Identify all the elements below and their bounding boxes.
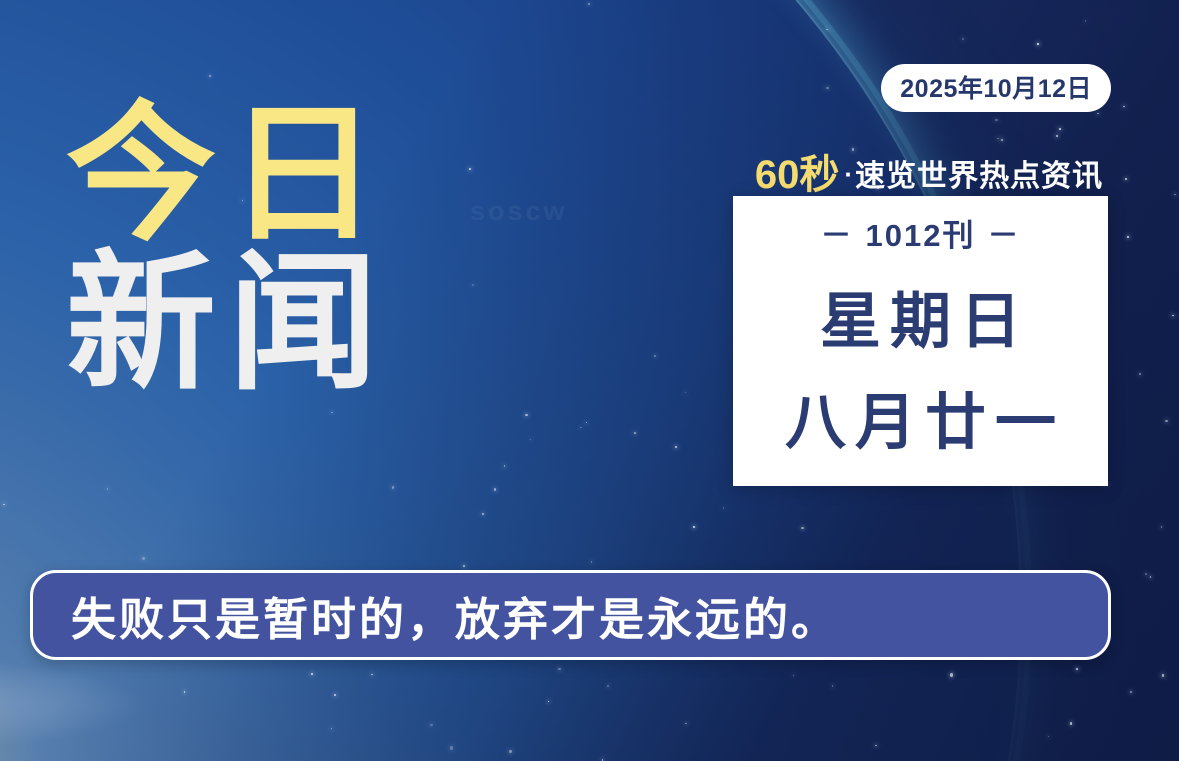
calendar-card: －1012刊－ 星期日 八月廿一	[733, 196, 1108, 486]
quote-bar: 失败只是暂时的，放弃才是永远的。	[30, 570, 1111, 660]
lunar-date-label: 八月廿一	[776, 372, 1065, 461]
page-title: 今日 新闻	[66, 104, 390, 394]
tagline: 60秒·速览世界热点资讯	[744, 142, 1114, 200]
issue-dash-left: －	[821, 218, 854, 253]
weekday-label: 星期日	[811, 271, 1030, 360]
issue-number: 1012刊	[866, 218, 976, 253]
date-badge: 2025年10月12日	[881, 64, 1111, 112]
issue-number-row: －1012刊－	[809, 210, 1033, 255]
issue-dash-right: －	[987, 218, 1020, 253]
tagline-description: 速览世界热点资讯	[855, 160, 1103, 193]
tagline-separator: ·	[844, 159, 853, 189]
page-title-line-1: 今日	[66, 104, 390, 245]
news-poster: soscw 今日 新闻 2025年10月12日 60秒·速览世界热点资讯 －10…	[0, 0, 1179, 761]
page-title-line-2: 新闻	[66, 253, 390, 394]
tagline-seconds: 60秒	[755, 153, 840, 197]
quote-text: 失败只是暂时的，放弃才是永远的。	[33, 583, 839, 648]
